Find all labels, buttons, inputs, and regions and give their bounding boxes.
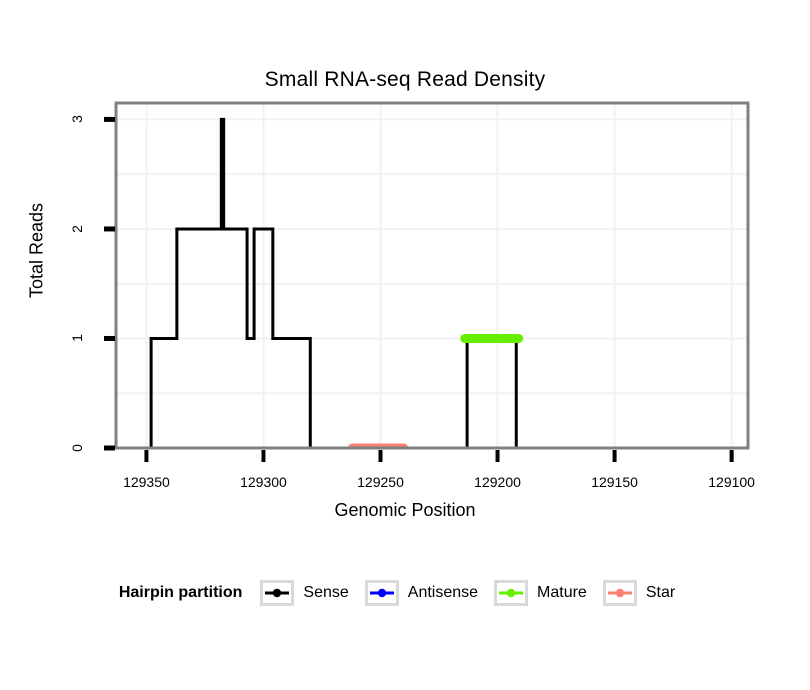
legend-label: Antisense: [408, 584, 478, 602]
y-tick-label: 3: [69, 108, 85, 130]
chart-figure: Small RNA-seq Read Density Total Reads G…: [0, 0, 810, 690]
legend-marker-icon: [607, 584, 633, 602]
chart-legend: Hairpin partition SenseAntisenseMatureSt…: [0, 580, 810, 606]
legend-marker-icon: [498, 584, 524, 602]
legend-entry[interactable]: Antisense: [365, 580, 478, 606]
legend-key-mature: [494, 580, 528, 606]
x-tick-label: 129200: [458, 474, 538, 490]
x-tick-label: 129250: [341, 474, 421, 490]
y-tick-label: 2: [69, 218, 85, 240]
legend-marker-icon: [264, 584, 290, 602]
x-tick-label: 129150: [575, 474, 655, 490]
legend-title: Hairpin partition: [119, 584, 243, 602]
legend-entry[interactable]: Mature: [494, 580, 587, 606]
legend-label: Star: [646, 584, 675, 602]
legend-entry-list: SenseAntisenseMatureStar: [260, 580, 691, 606]
x-tick-label: 129300: [223, 474, 303, 490]
legend-entry[interactable]: Star: [603, 580, 675, 606]
x-tick-label: 129100: [692, 474, 772, 490]
legend-label: Sense: [303, 584, 348, 602]
legend-key-star: [603, 580, 637, 606]
legend-key-sense: [260, 580, 294, 606]
legend-marker-icon: [369, 584, 395, 602]
legend-label: Mature: [537, 584, 587, 602]
x-tick-label: 129350: [106, 474, 186, 490]
legend-entry[interactable]: Sense: [260, 580, 348, 606]
y-tick-label: 1: [69, 327, 85, 349]
y-tick-label: 0: [69, 437, 85, 459]
legend-key-antisense: [365, 580, 399, 606]
